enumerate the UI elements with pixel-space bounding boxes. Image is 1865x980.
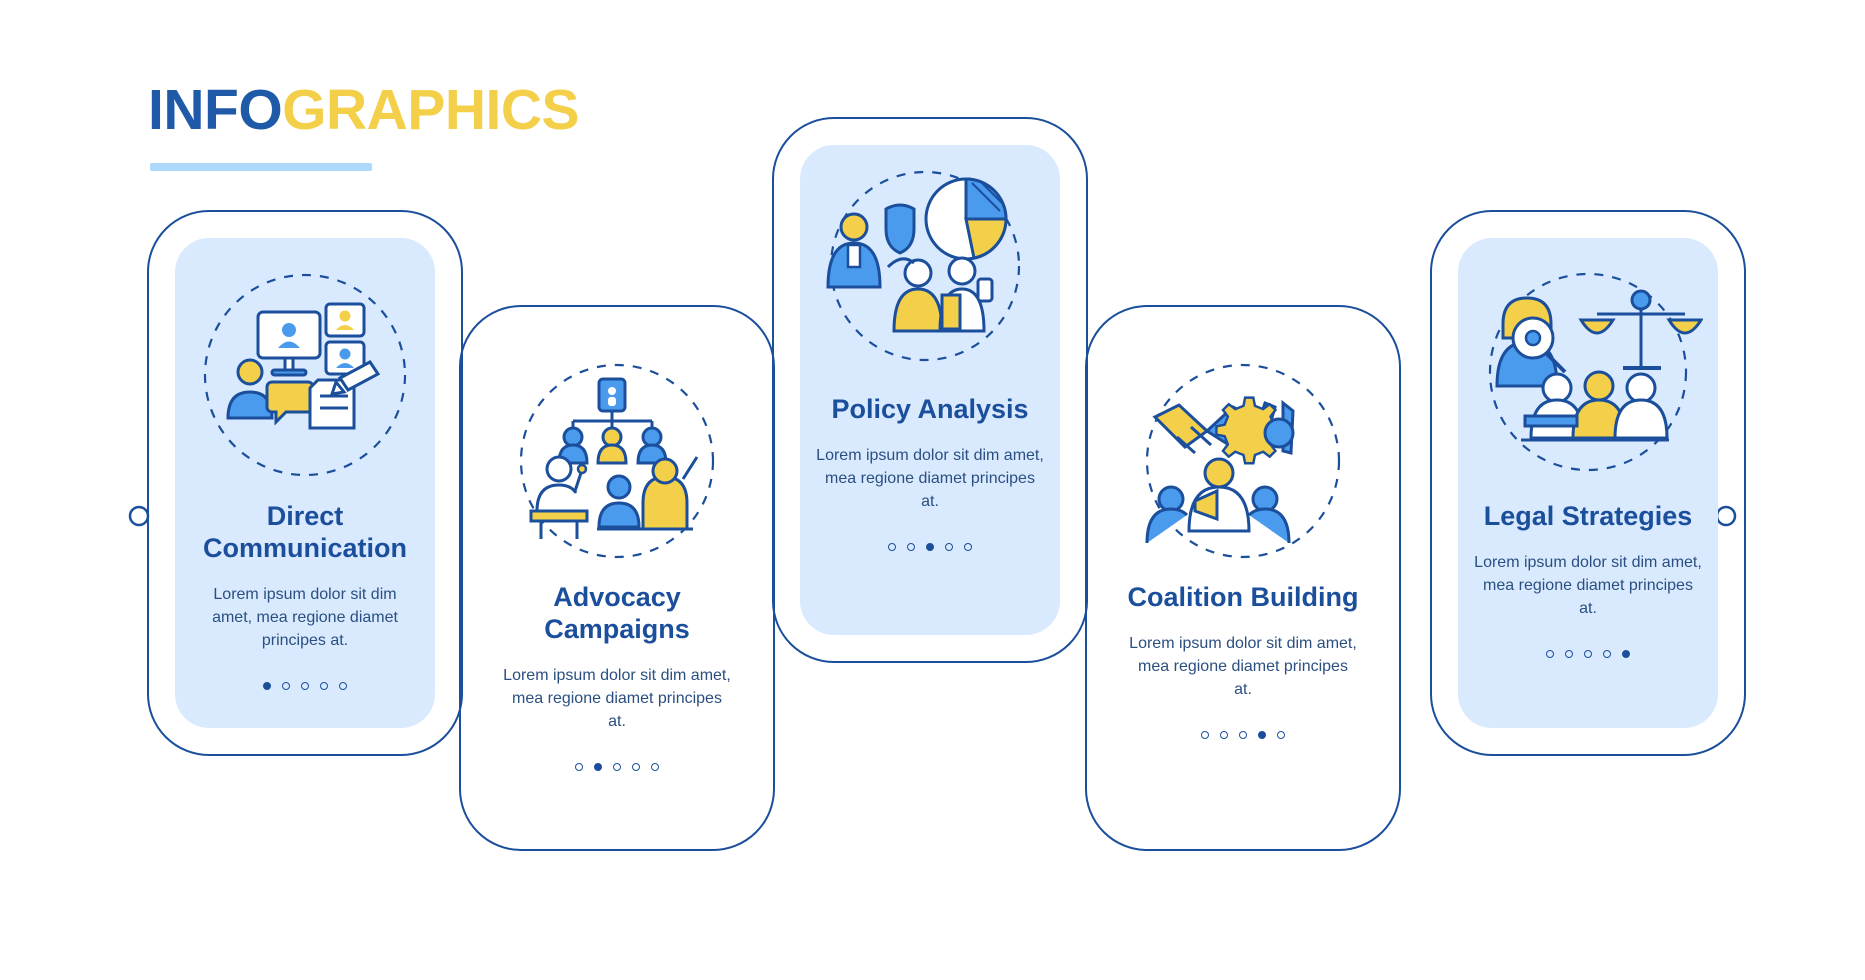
step-card-3[interactable]: Policy Analysis Lorem ipsum dolor sit di… bbox=[800, 145, 1060, 635]
progress-dot bbox=[1220, 731, 1228, 739]
step-card-3-title: Policy Analysis bbox=[815, 394, 1045, 426]
step-card-4-title: Coalition Building bbox=[1123, 582, 1363, 614]
progress-dot bbox=[1584, 650, 1592, 658]
step-card-3-progress-dots bbox=[888, 543, 972, 551]
progress-dot bbox=[1258, 731, 1266, 739]
progress-dot bbox=[263, 682, 271, 690]
progress-dot bbox=[945, 543, 953, 551]
step-card-2-progress-dots bbox=[575, 763, 659, 771]
title-secondary: GRAPHICS bbox=[282, 78, 579, 142]
progress-dot bbox=[926, 543, 934, 551]
policy-chart-people-icon bbox=[820, 161, 1040, 386]
page-title: INFOGRAPHICS bbox=[148, 82, 579, 139]
progress-dot bbox=[651, 763, 659, 771]
progress-dot bbox=[594, 763, 602, 771]
justice-scales-icon bbox=[1473, 260, 1703, 495]
step-card-3-body: Lorem ipsum dolor sit dim amet, mea regi… bbox=[814, 444, 1046, 514]
progress-dot bbox=[907, 543, 915, 551]
title-underline bbox=[150, 163, 372, 171]
public-speaker-crowd-icon bbox=[507, 351, 727, 576]
progress-dot bbox=[575, 763, 583, 771]
progress-dot bbox=[964, 543, 972, 551]
step-card-2-body: Lorem ipsum dolor sit dim amet, mea regi… bbox=[501, 664, 733, 734]
progress-dot bbox=[282, 682, 290, 690]
step-card-5-title: Legal Strategies bbox=[1473, 501, 1703, 533]
progress-dot bbox=[301, 682, 309, 690]
step-card-1-title: Direct Communication bbox=[190, 501, 420, 565]
step-card-1-body: Lorem ipsum dolor sit dim amet, mea regi… bbox=[194, 583, 416, 653]
step-card-1-progress-dots bbox=[263, 682, 347, 690]
handshake-gear-icon bbox=[1133, 351, 1353, 576]
step-card-2[interactable]: Advocacy Campaigns Lorem ipsum dolor sit… bbox=[487, 333, 747, 823]
step-card-4-body: Lorem ipsum dolor sit dim amet, mea regi… bbox=[1127, 632, 1359, 702]
progress-dot bbox=[339, 682, 347, 690]
progress-dot bbox=[1546, 650, 1554, 658]
progress-dot bbox=[613, 763, 621, 771]
progress-dot bbox=[320, 682, 328, 690]
infographic-canvas: INFOGRAPHICS bbox=[0, 0, 1865, 980]
step-card-4-progress-dots bbox=[1201, 731, 1285, 739]
step-card-1[interactable]: Direct Communication Lorem ipsum dolor s… bbox=[175, 238, 435, 728]
progress-dot bbox=[1622, 650, 1630, 658]
progress-dot bbox=[1201, 731, 1209, 739]
step-card-2-title: Advocacy Campaigns bbox=[497, 582, 737, 646]
progress-dot bbox=[1239, 731, 1247, 739]
video-conference-icon bbox=[190, 260, 420, 495]
step-card-5-progress-dots bbox=[1546, 650, 1630, 658]
title-primary: INFO bbox=[148, 78, 282, 142]
step-card-4[interactable]: Coalition Building Lorem ipsum dolor sit… bbox=[1113, 333, 1373, 823]
step-card-5-body: Lorem ipsum dolor sit dim amet, mea regi… bbox=[1472, 551, 1704, 621]
progress-dot bbox=[632, 763, 640, 771]
step-card-5[interactable]: Legal Strategies Lorem ipsum dolor sit d… bbox=[1458, 238, 1718, 728]
progress-dot bbox=[1565, 650, 1573, 658]
progress-dot bbox=[1603, 650, 1611, 658]
progress-dot bbox=[1277, 731, 1285, 739]
progress-dot bbox=[888, 543, 896, 551]
